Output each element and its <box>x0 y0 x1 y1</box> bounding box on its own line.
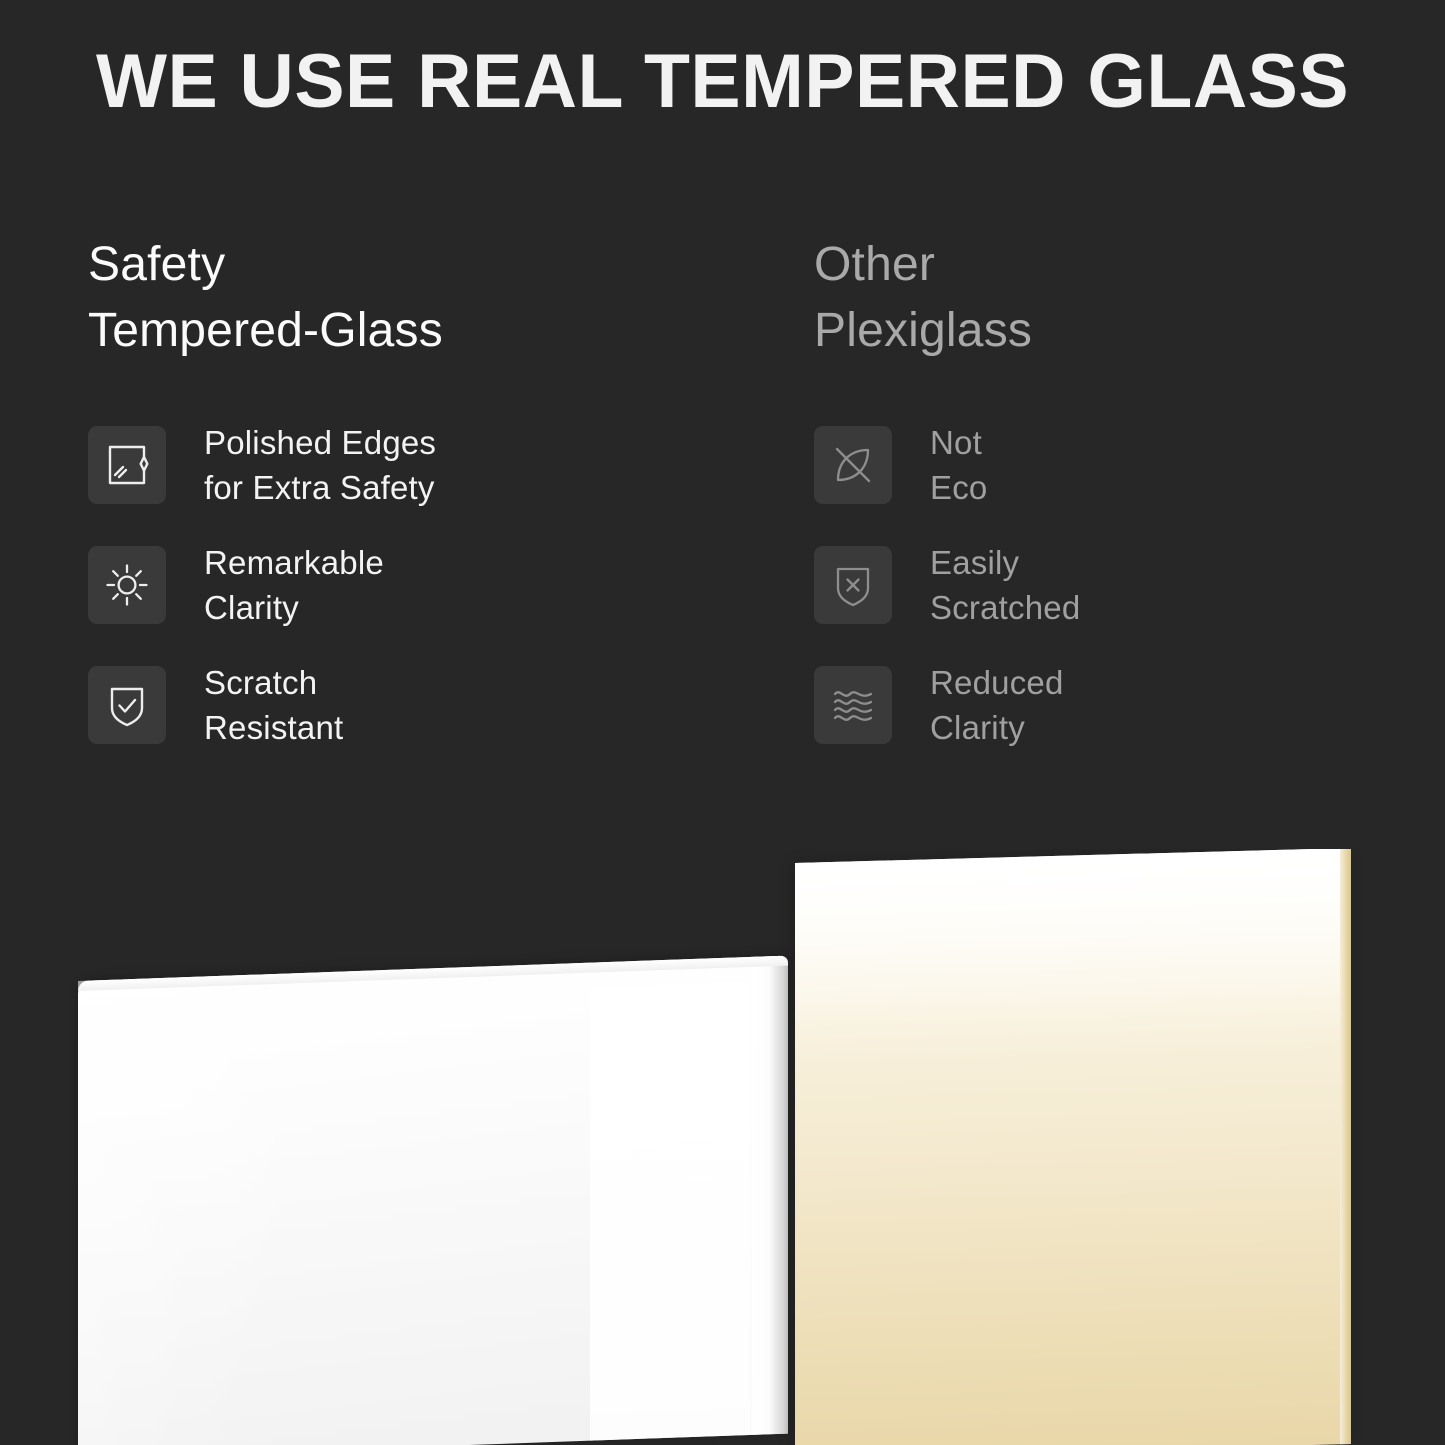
plexiglass-sheen <box>795 849 1351 1063</box>
shield-check-icon <box>88 666 166 744</box>
feature-list-tempered-glass: Polished Edges for Extra Safety Remarkab… <box>88 418 800 752</box>
feature-label: Not Eco <box>930 420 987 511</box>
column-title-tempered-glass: Safety Tempered-Glass <box>88 232 800 364</box>
tempered-glass-sheen <box>78 970 378 1445</box>
plexiglass-right-edge <box>1340 849 1351 1444</box>
feature-label: Polished Edges for Extra Safety <box>204 420 436 511</box>
feature-label: Easily Scratched <box>930 540 1080 631</box>
wavy-lines-icon <box>814 666 892 744</box>
page-title: WE USE REAL TEMPERED GLASS <box>7 44 1438 120</box>
feature-polished-edges: Polished Edges for Extra Safety <box>88 418 800 512</box>
feature-easily-scratched: Easily Scratched <box>814 538 1445 632</box>
tempered-glass-comparison-infographic: WE USE REAL TEMPERED GLASS Safety Temper… <box>0 0 1445 1445</box>
sun-brightness-icon <box>88 546 166 624</box>
feature-label: Reduced Clarity <box>930 660 1064 751</box>
tempered-glass-reflection <box>590 981 750 1441</box>
feature-label: Scratch Resistant <box>204 660 343 751</box>
tempered-glass-panel-white <box>78 956 788 1445</box>
feature-reduced-clarity: Reduced Clarity <box>814 658 1445 752</box>
feature-label: Remarkable Clarity <box>204 540 384 631</box>
feature-scratch-resistant: Scratch Resistant <box>88 658 800 752</box>
feature-not-eco: Not Eco <box>814 418 1445 512</box>
tempered-glass-polished-edge <box>746 956 788 1436</box>
column-plexiglass: Other Plexiglass Not Eco <box>800 232 1445 778</box>
feature-list-plexiglass: Not Eco Easily Scratched <box>814 418 1445 752</box>
shield-x-icon <box>814 546 892 624</box>
plexiglass-panel-yellowed <box>795 849 1351 1445</box>
feature-remarkable-clarity: Remarkable Clarity <box>88 538 800 632</box>
column-tempered-glass: Safety Tempered-Glass Polished Edges for… <box>0 232 800 778</box>
column-title-plexiglass: Other Plexiglass <box>814 232 1445 364</box>
comparison-columns: Safety Tempered-Glass Polished Edges for… <box>0 232 1445 778</box>
leaf-crossed-out-icon <box>814 426 892 504</box>
product-photo <box>0 849 1445 1445</box>
polished-glass-pane-sparkle-icon <box>88 426 166 504</box>
